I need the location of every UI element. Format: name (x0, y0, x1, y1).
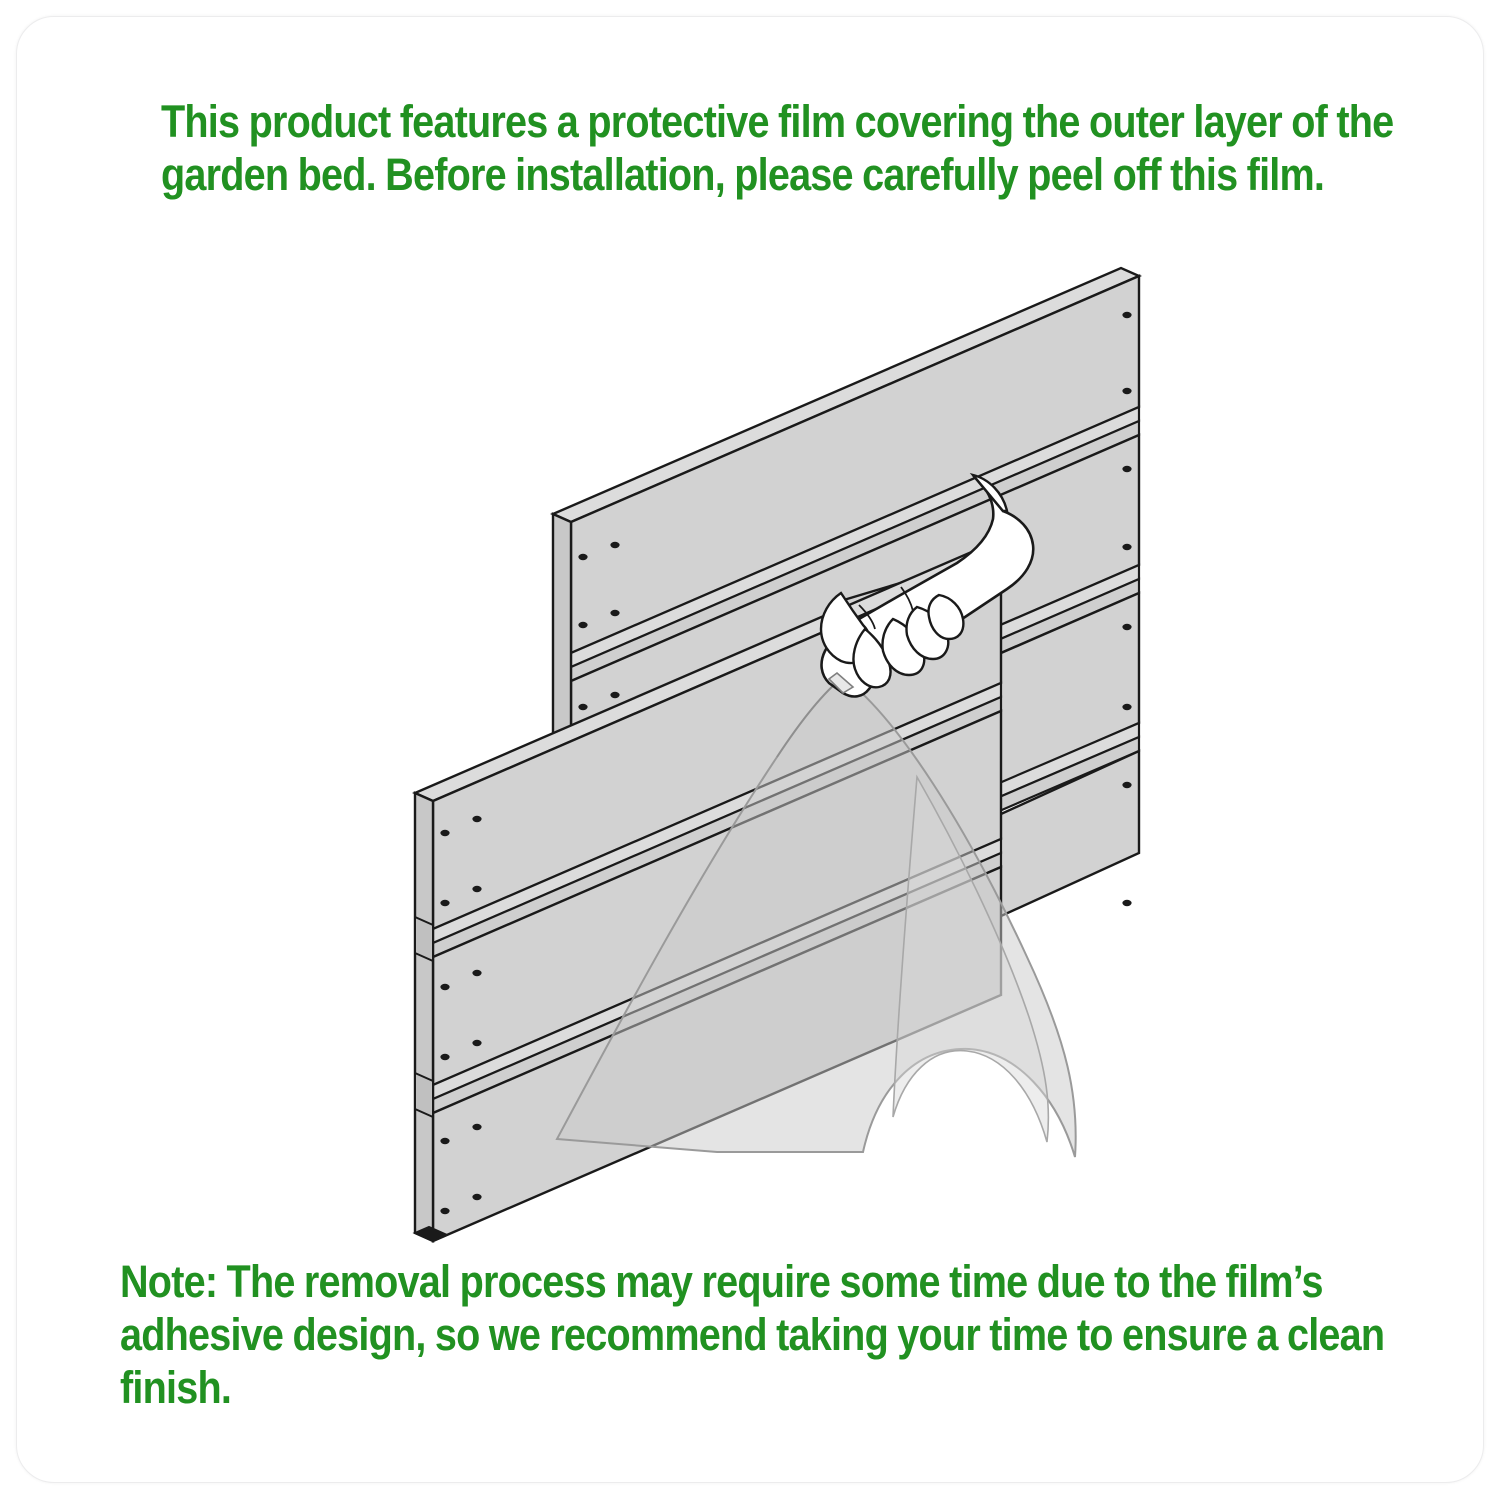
front-panel-notch-1 (415, 917, 433, 961)
instruction-note: Note: The removal process may require so… (120, 1255, 1431, 1414)
instruction-card: This product features a protective film … (16, 16, 1484, 1483)
front-panel-left-fold (415, 793, 433, 1241)
front-panel-notch-2 (415, 1073, 433, 1117)
